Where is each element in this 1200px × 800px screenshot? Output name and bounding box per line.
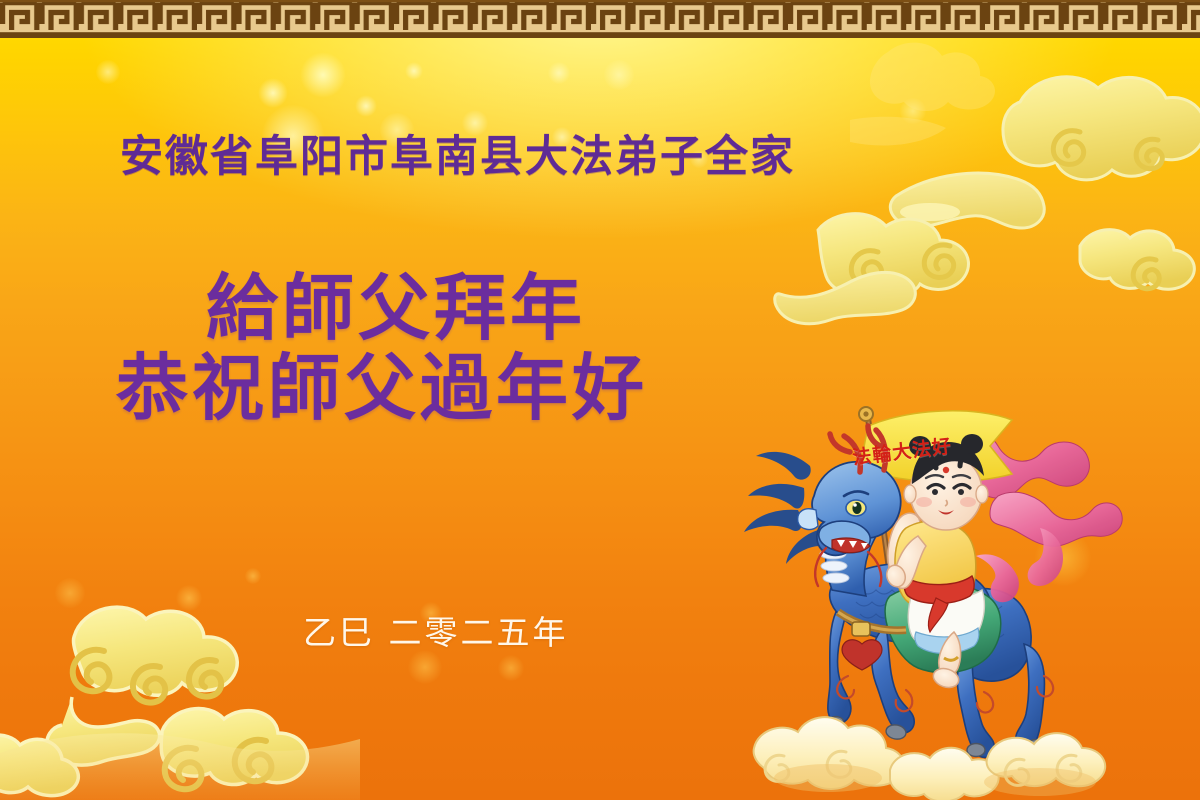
greeting-line-1: 給師父拜年 (206, 272, 586, 344)
cloud-bottom-left (0, 575, 360, 800)
page-title: 安徽省阜阳市阜南县大法弟子全家 (120, 136, 795, 179)
cloud-top-right (770, 40, 1200, 350)
bokeh-orb (604, 60, 634, 90)
bokeh-orb (408, 650, 442, 684)
bokeh-orb (355, 95, 377, 117)
bokeh-orb (258, 78, 288, 108)
bokeh-orb (498, 655, 524, 681)
bokeh-orb (405, 62, 423, 80)
new-year-greeting-card: 安徽省阜阳市阜南县大法弟子全家 給師父拜年 恭祝師父過年好 乙巳 二零二五年 (0, 0, 1200, 800)
child-riding-dragon-illustration (740, 400, 1140, 800)
bokeh-orb (245, 568, 261, 584)
bokeh-orb (900, 98, 926, 124)
greeting-line-2: 恭祝師父過年好 (116, 352, 648, 424)
bokeh-orb (300, 52, 346, 98)
date-line: 乙巳 二零二五年 (303, 616, 569, 649)
greek-key-border (0, 0, 1200, 38)
bokeh-orb (55, 578, 85, 608)
bokeh-orb (176, 585, 202, 611)
bokeh-orb (548, 62, 570, 84)
bokeh-orb (96, 60, 120, 84)
